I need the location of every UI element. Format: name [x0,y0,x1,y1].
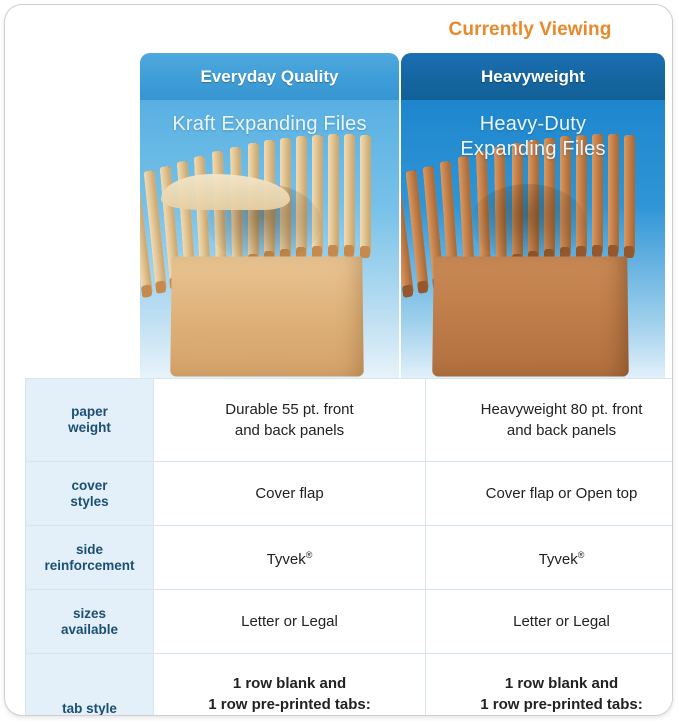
row-label-paper-weight: paper weight [26,379,154,462]
registered-trademark-icon: ® [306,550,313,560]
cell-heavyweight-paper-weight: Heavyweight 80 pt. front and back panels [426,379,674,462]
file-front-panel [432,257,629,377]
comparison-table: paper weight Durable 55 pt. front and ba… [25,378,673,716]
row-label-tab-style: tab style & number of pockets [26,654,154,717]
cell-line-1: 1 row blank and [160,673,419,694]
row-label-line-1: side [32,542,147,558]
row-label-line-2: weight [32,420,147,436]
row-label-line-1: paper [32,404,147,420]
cell-line-2: and back panels [160,420,419,441]
panel-header-heavyweight: Heavyweight [401,53,665,100]
cell-line-2: 1 row pre-printed tabs: [432,694,673,715]
row-label-line-2: reinforcement [32,558,147,574]
cell-line-3: A-Z (21 Pockets) [160,715,419,717]
cell-line-1: Heavyweight 80 pt. front [432,399,673,420]
registered-trademark-icon: ® [578,550,585,560]
cell-everyday-cover-styles: Cover flap [154,462,426,526]
panel-title-heavyweight: Heavyweight [481,67,585,87]
table-row-tab-style: tab style & number of pockets 1 row blan… [26,654,674,717]
row-label-line-1: sizes [32,606,147,622]
cell-heavyweight-tab-style: 1 row blank and 1 row pre-printed tabs: … [426,654,674,717]
panel-heavyweight[interactable]: Heavyweight Heavy-Duty Expanding Files [401,53,665,378]
cell-line-2: and back panels [432,420,673,441]
cell-text: Tyvek [267,551,306,568]
panel-header-everyday-quality: Everyday Quality [140,53,399,100]
cell-heavyweight-sizes-available: Letter or Legal [426,590,674,654]
row-label-line-1: tab style [32,701,147,716]
cell-line-1: Durable 55 pt. front [160,399,419,420]
panel-subtitle-line-1: Kraft Expanding Files [140,112,399,137]
comparison-card: Currently Viewing Everyday Quality Kraft… [4,4,673,716]
heavy-duty-expanding-file-image [401,163,665,378]
cell-line-2: 1 row pre-printed tabs: [160,694,419,715]
panel-subtitle-line-2: Expanding Files [401,137,665,162]
row-label-line-1: cover [32,478,147,494]
row-label-sizes-available: sizes available [26,590,154,654]
row-label-line-2: available [32,622,147,638]
table-row-side-reinforcement: side reinforcement Tyvek® Tyvek® [26,526,674,590]
panel-everyday-quality[interactable]: Everyday Quality Kraft Expanding Files [140,53,399,378]
cell-line-3: A-Z (21 Pockets) [432,715,673,717]
cell-heavyweight-side-reinforcement: Tyvek® [426,526,674,590]
cell-everyday-paper-weight: Durable 55 pt. front and back panels [154,379,426,462]
product-panels: Everyday Quality Kraft Expanding Files [140,53,665,378]
cell-text: Tyvek [539,551,578,568]
panel-title-everyday-quality: Everyday Quality [201,67,339,87]
file-front-panel [170,257,363,377]
file-interior-shadow [470,184,586,262]
panel-body-everyday-quality: Kraft Expanding Files [140,100,399,378]
cell-heavyweight-cover-styles: Cover flap or Open top [426,462,674,526]
cell-everyday-sizes-available: Letter or Legal [154,590,426,654]
cell-everyday-tab-style: 1 row blank and 1 row pre-printed tabs: … [154,654,426,717]
panel-subtitle-heavyweight: Heavy-Duty Expanding Files [401,100,665,162]
panel-body-heavyweight: Heavy-Duty Expanding Files [401,100,665,378]
cell-everyday-side-reinforcement: Tyvek® [154,526,426,590]
panel-subtitle-everyday-quality: Kraft Expanding Files [140,100,399,137]
row-label-line-2: styles [32,494,147,510]
panel-subtitle-line-1: Heavy-Duty [401,112,665,137]
cell-line-1: 1 row blank and [432,673,673,694]
row-label-cover-styles: cover styles [26,462,154,526]
row-label-side-reinforcement: side reinforcement [26,526,154,590]
currently-viewing-banner: Currently Viewing [395,19,665,41]
table-row-sizes-available: sizes available Letter or Legal Letter o… [26,590,674,654]
kraft-expanding-file-image [140,163,399,378]
table-row-paper-weight: paper weight Durable 55 pt. front and ba… [26,379,674,462]
table-row-cover-styles: cover styles Cover flap Cover flap or Op… [26,462,674,526]
